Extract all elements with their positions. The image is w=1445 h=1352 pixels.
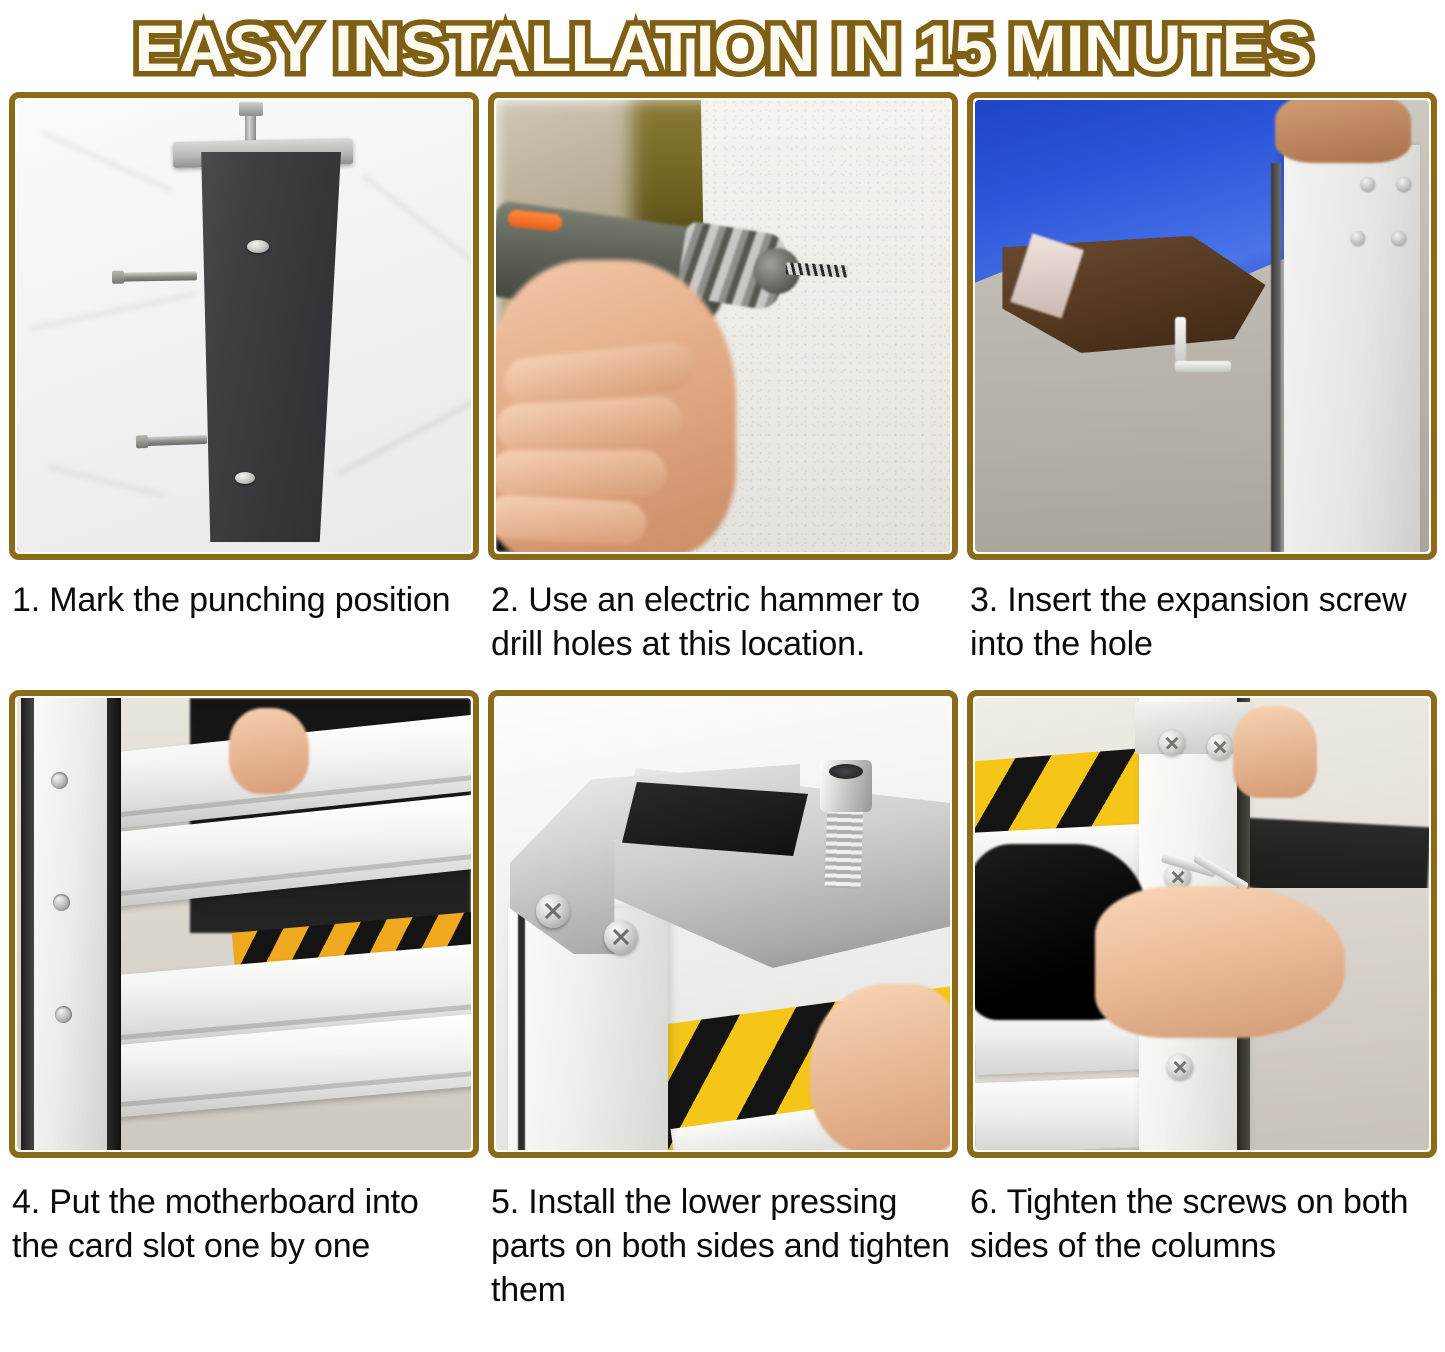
- post-dark-edge: [1271, 163, 1281, 552]
- post-body: [189, 152, 341, 542]
- step-4-caption: 4. Put the motherboard into the card slo…: [4, 1158, 483, 1286]
- upper-hand: [1275, 100, 1411, 163]
- white-post: [1284, 145, 1420, 552]
- post-screw: [1397, 177, 1411, 191]
- step-card-5: 5. Install the lower pressing parts on b…: [483, 690, 962, 1313]
- step-card-6: 6. Tighten the screws on both sides of t…: [962, 690, 1441, 1313]
- post-screw: [1361, 177, 1375, 191]
- column-screw: [1159, 730, 1185, 756]
- step-1-photo-mark-punching-position: [17, 100, 471, 552]
- step-3-photo-insert-expansion-screw: [975, 100, 1429, 552]
- step-card-4: 4. Put the motherboard into the card slo…: [4, 690, 483, 1313]
- finger: [496, 395, 683, 453]
- post-inner-slot: [107, 698, 121, 1150]
- step-5-photo-lower-pressing-parts: [496, 698, 950, 1150]
- step-1-photo-frame: [9, 92, 479, 560]
- hand-placing-board: [229, 708, 309, 794]
- step-2-photo-frame: [488, 92, 958, 560]
- step-6-photo-frame: [967, 690, 1437, 1158]
- step-card-1: 1. Mark the punching position: [4, 92, 483, 690]
- step-2-caption: 2. Use an electric hammer to drill holes…: [483, 560, 962, 690]
- column-screw: [1167, 1054, 1193, 1080]
- step-3-caption: 3. Insert the expansion screw into the h…: [962, 560, 1441, 690]
- post-card-slot: [21, 698, 34, 1150]
- upper-hand: [1233, 706, 1317, 798]
- white-post: [33, 698, 107, 1150]
- post-dark-edge: [518, 912, 525, 1150]
- drill-hole-upper: [247, 240, 269, 253]
- infographic-page: EASY INSTALLATION IN 15 MINUTES: [0, 0, 1445, 1352]
- thumb-bolt-thread: [825, 801, 864, 888]
- steps-row-1: 1. Mark the punching position: [4, 92, 1441, 690]
- title-bar: EASY INSTALLATION IN 15 MINUTES: [0, 0, 1445, 92]
- step-5-photo-frame: [488, 690, 958, 1158]
- steps-row-2: 4. Put the motherboard into the card slo…: [4, 690, 1441, 1313]
- post-hole: [51, 772, 68, 789]
- knurled-thumb-bolt-head: [820, 760, 872, 812]
- step-2-photo-drill-holes: [496, 100, 950, 552]
- bracket-screw: [536, 894, 570, 928]
- barrier-board: [975, 1077, 1152, 1150]
- rod-nut: [239, 102, 263, 116]
- side-bolt: [121, 271, 197, 281]
- thumb-holding-part: [810, 984, 950, 1150]
- finger: [496, 450, 666, 496]
- page-title: EASY INSTALLATION IN 15 MINUTES: [134, 15, 1311, 81]
- post-hole: [55, 1006, 72, 1023]
- bracket-screw: [604, 920, 638, 954]
- post-hole: [53, 894, 70, 911]
- column-screw: [1207, 734, 1233, 760]
- step-1-caption: 1. Mark the punching position: [4, 560, 483, 690]
- step-card-2: 2. Use an electric hammer to drill holes…: [483, 92, 962, 690]
- step-6-photo-tighten-screws: [975, 698, 1429, 1150]
- step-3-photo-frame: [967, 92, 1437, 560]
- step-4-photo-frame: [9, 690, 479, 1158]
- finger: [496, 494, 647, 546]
- allen-key-on-floor: [1175, 317, 1233, 383]
- drill-hole-lower: [235, 472, 255, 484]
- step-5-caption: 5. Install the lower pressing parts on b…: [483, 1158, 962, 1313]
- steps-grid: 1. Mark the punching position: [0, 92, 1445, 1313]
- hand-tightening: [1095, 886, 1345, 1038]
- step-6-caption: 6. Tighten the screws on both sides of t…: [962, 1158, 1441, 1286]
- step-4-photo-insert-boards: [17, 698, 471, 1150]
- step-card-3: 3. Insert the expansion screw into the h…: [962, 92, 1441, 690]
